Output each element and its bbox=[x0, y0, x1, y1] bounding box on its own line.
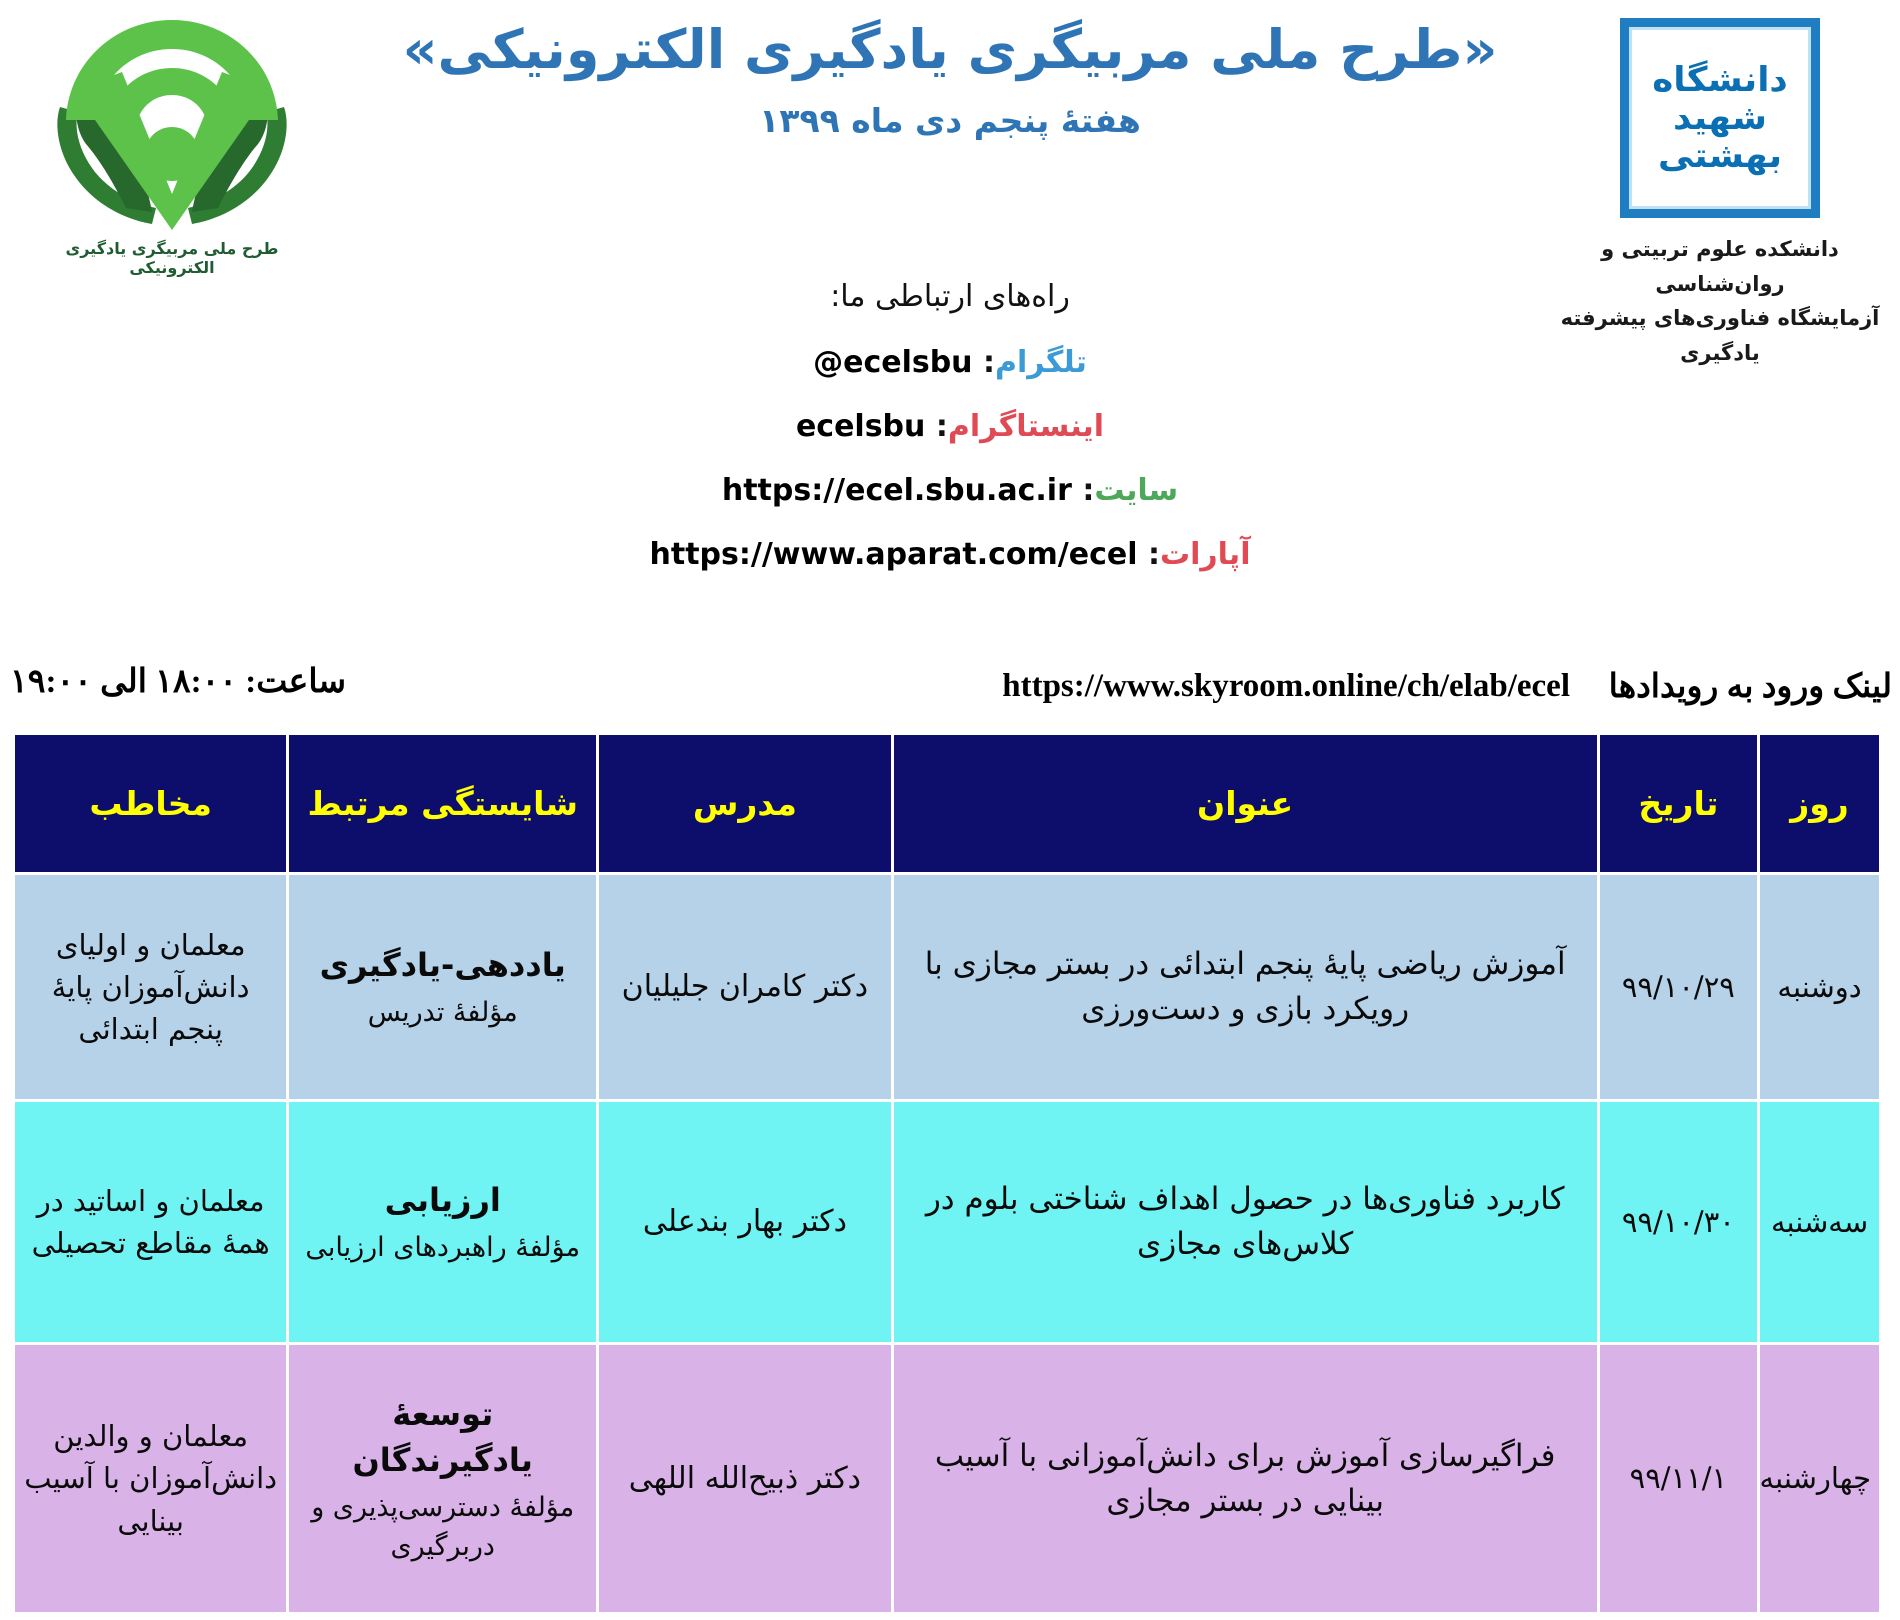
contact-telegram: تلگرام: @ecelsbu bbox=[0, 348, 1900, 378]
site-separator: : bbox=[1082, 473, 1094, 508]
cell-audience: معلمان و والدین دانش‌آموزان با آسیب بینا… bbox=[14, 1344, 288, 1614]
cell-day: سه‌شنبه bbox=[1759, 1101, 1881, 1344]
site-label: سایت bbox=[1094, 473, 1178, 508]
ecel-logo-icon bbox=[52, 12, 292, 237]
event-time: ساعت: ۱۸:۰۰ الی ۱۹:۰۰ bbox=[10, 662, 400, 703]
column-header-teacher: مدرس bbox=[598, 734, 893, 874]
poster-header: دانشگاه شهید بهشتی دانشکده علوم تربیتی و… bbox=[0, 0, 1900, 660]
competency-main: توسعۀ یادگیرندگان bbox=[297, 1391, 588, 1484]
table-header-row: روز تاریخ عنوان مدرس شایستگی مرتبط مخاطب bbox=[14, 734, 1881, 874]
sbu-logo-inner: دانشگاه شهید بهشتی bbox=[1629, 27, 1811, 209]
cell-teacher: دکتر کامران جلیلیان bbox=[598, 874, 893, 1101]
competency-sub: مؤلفۀ تدریس bbox=[297, 993, 588, 1032]
contact-lead: راه‌های ارتباطی ما: bbox=[0, 282, 1900, 312]
cell-title: کاربرد فناوری‌ها در حصول اهداف شناختی بل… bbox=[892, 1101, 1598, 1344]
column-header-day: روز bbox=[1759, 734, 1881, 874]
table-row: چهارشنبه ۹۹/۱۱/۱ فراگیرسازی آموزش برای د… bbox=[14, 1344, 1881, 1614]
cell-teacher: دکتر ذبیح‌الله اللهی bbox=[598, 1344, 893, 1614]
event-link-label: لینک ورود به رویدادها bbox=[1609, 666, 1892, 706]
competency-main: یاددهی-یادگیری bbox=[297, 942, 588, 988]
cell-date: ۹۹/۱۱/۱ bbox=[1598, 1344, 1758, 1614]
aparat-separator: : bbox=[1148, 537, 1160, 572]
cell-title: آموزش ریاضی پایۀ پنجم ابتدائی در بستر مج… bbox=[892, 874, 1598, 1101]
sbu-logo: دانشگاه شهید بهشتی bbox=[1620, 18, 1820, 218]
ecel-branding-block: طرح ملی مربیگری یادگیری الکترونیکی bbox=[22, 12, 322, 277]
instagram-label: اینستاگرام bbox=[948, 409, 1104, 444]
sbu-logo-calligraphy: دانشگاه شهید بهشتی bbox=[1628, 61, 1813, 175]
cell-competency: توسعۀ یادگیرندگان مؤلفۀ دسترسی‌پذیری و د… bbox=[288, 1344, 598, 1614]
schedule-table: روز تاریخ عنوان مدرس شایستگی مرتبط مخاطب… bbox=[12, 732, 1882, 1615]
telegram-value[interactable]: @ecelsbu bbox=[813, 348, 972, 378]
instagram-value[interactable]: ecelsbu bbox=[796, 412, 925, 442]
event-link-url[interactable]: https://www.skyroom.online/ch/elab/ecel bbox=[1002, 668, 1570, 705]
cell-date: ۹۹/۱۰/۲۹ bbox=[1598, 874, 1758, 1101]
column-header-title: عنوان bbox=[892, 734, 1598, 874]
cell-audience: معلمان و اولیای دانش‌آموزان پایۀ پنجم اب… bbox=[14, 874, 288, 1101]
table-row: دوشنبه ۹۹/۱۰/۲۹ آموزش ریاضی پایۀ پنجم اب… bbox=[14, 874, 1881, 1101]
telegram-label: تلگرام bbox=[995, 345, 1087, 380]
site-url[interactable]: https://ecel.sbu.ac.ir bbox=[722, 476, 1072, 506]
cell-date: ۹۹/۱۰/۳۰ bbox=[1598, 1101, 1758, 1344]
column-header-audience: مخاطب bbox=[14, 734, 288, 874]
cell-teacher: دکتر بهار بندعلی bbox=[598, 1101, 893, 1344]
instagram-separator: : bbox=[936, 409, 948, 444]
aparat-url[interactable]: https://www.aparat.com/ecel bbox=[650, 540, 1138, 570]
aparat-label: آپارات bbox=[1160, 537, 1251, 572]
competency-sub: مؤلفۀ دسترسی‌پذیری و دربرگیری bbox=[297, 1488, 588, 1566]
competency-main: ارزیابی bbox=[297, 1177, 588, 1223]
cell-audience: معلمان و اساتید در همۀ مقاطع تحصیلی bbox=[14, 1101, 288, 1344]
contact-info-block: راه‌های ارتباطی ما: تلگرام: @ecelsbu این… bbox=[0, 282, 1900, 604]
cell-competency: یاددهی-یادگیری مؤلفۀ تدریس bbox=[288, 874, 598, 1101]
contact-instagram: اینستاگرام: ecelsbu bbox=[0, 412, 1900, 442]
cell-day: چهارشنبه bbox=[1759, 1344, 1881, 1614]
cell-day: دوشنبه bbox=[1759, 874, 1881, 1101]
cell-title: فراگیرسازی آموزش برای دانش‌آموزانی با آس… bbox=[892, 1344, 1598, 1614]
column-header-date: تاریخ bbox=[1598, 734, 1758, 874]
competency-sub: مؤلفۀ راهبردهای ارزیابی bbox=[297, 1228, 588, 1267]
ecel-logo-caption: طرح ملی مربیگری یادگیری الکترونیکی bbox=[22, 239, 322, 277]
contact-website: سایت: https://ecel.sbu.ac.ir bbox=[0, 476, 1900, 506]
column-header-competency: شایستگی مرتبط bbox=[288, 734, 598, 874]
event-link-strip: لینک ورود به رویدادها https://www.skyroo… bbox=[0, 660, 1900, 732]
contact-aparat: آپارات: https://www.aparat.com/ecel bbox=[0, 540, 1900, 570]
telegram-separator: : bbox=[983, 345, 995, 380]
cell-competency: ارزیابی مؤلفۀ راهبردهای ارزیابی bbox=[288, 1101, 598, 1344]
table-row: سه‌شنبه ۹۹/۱۰/۳۰ کاربرد فناوری‌ها در حصو… bbox=[14, 1101, 1881, 1344]
